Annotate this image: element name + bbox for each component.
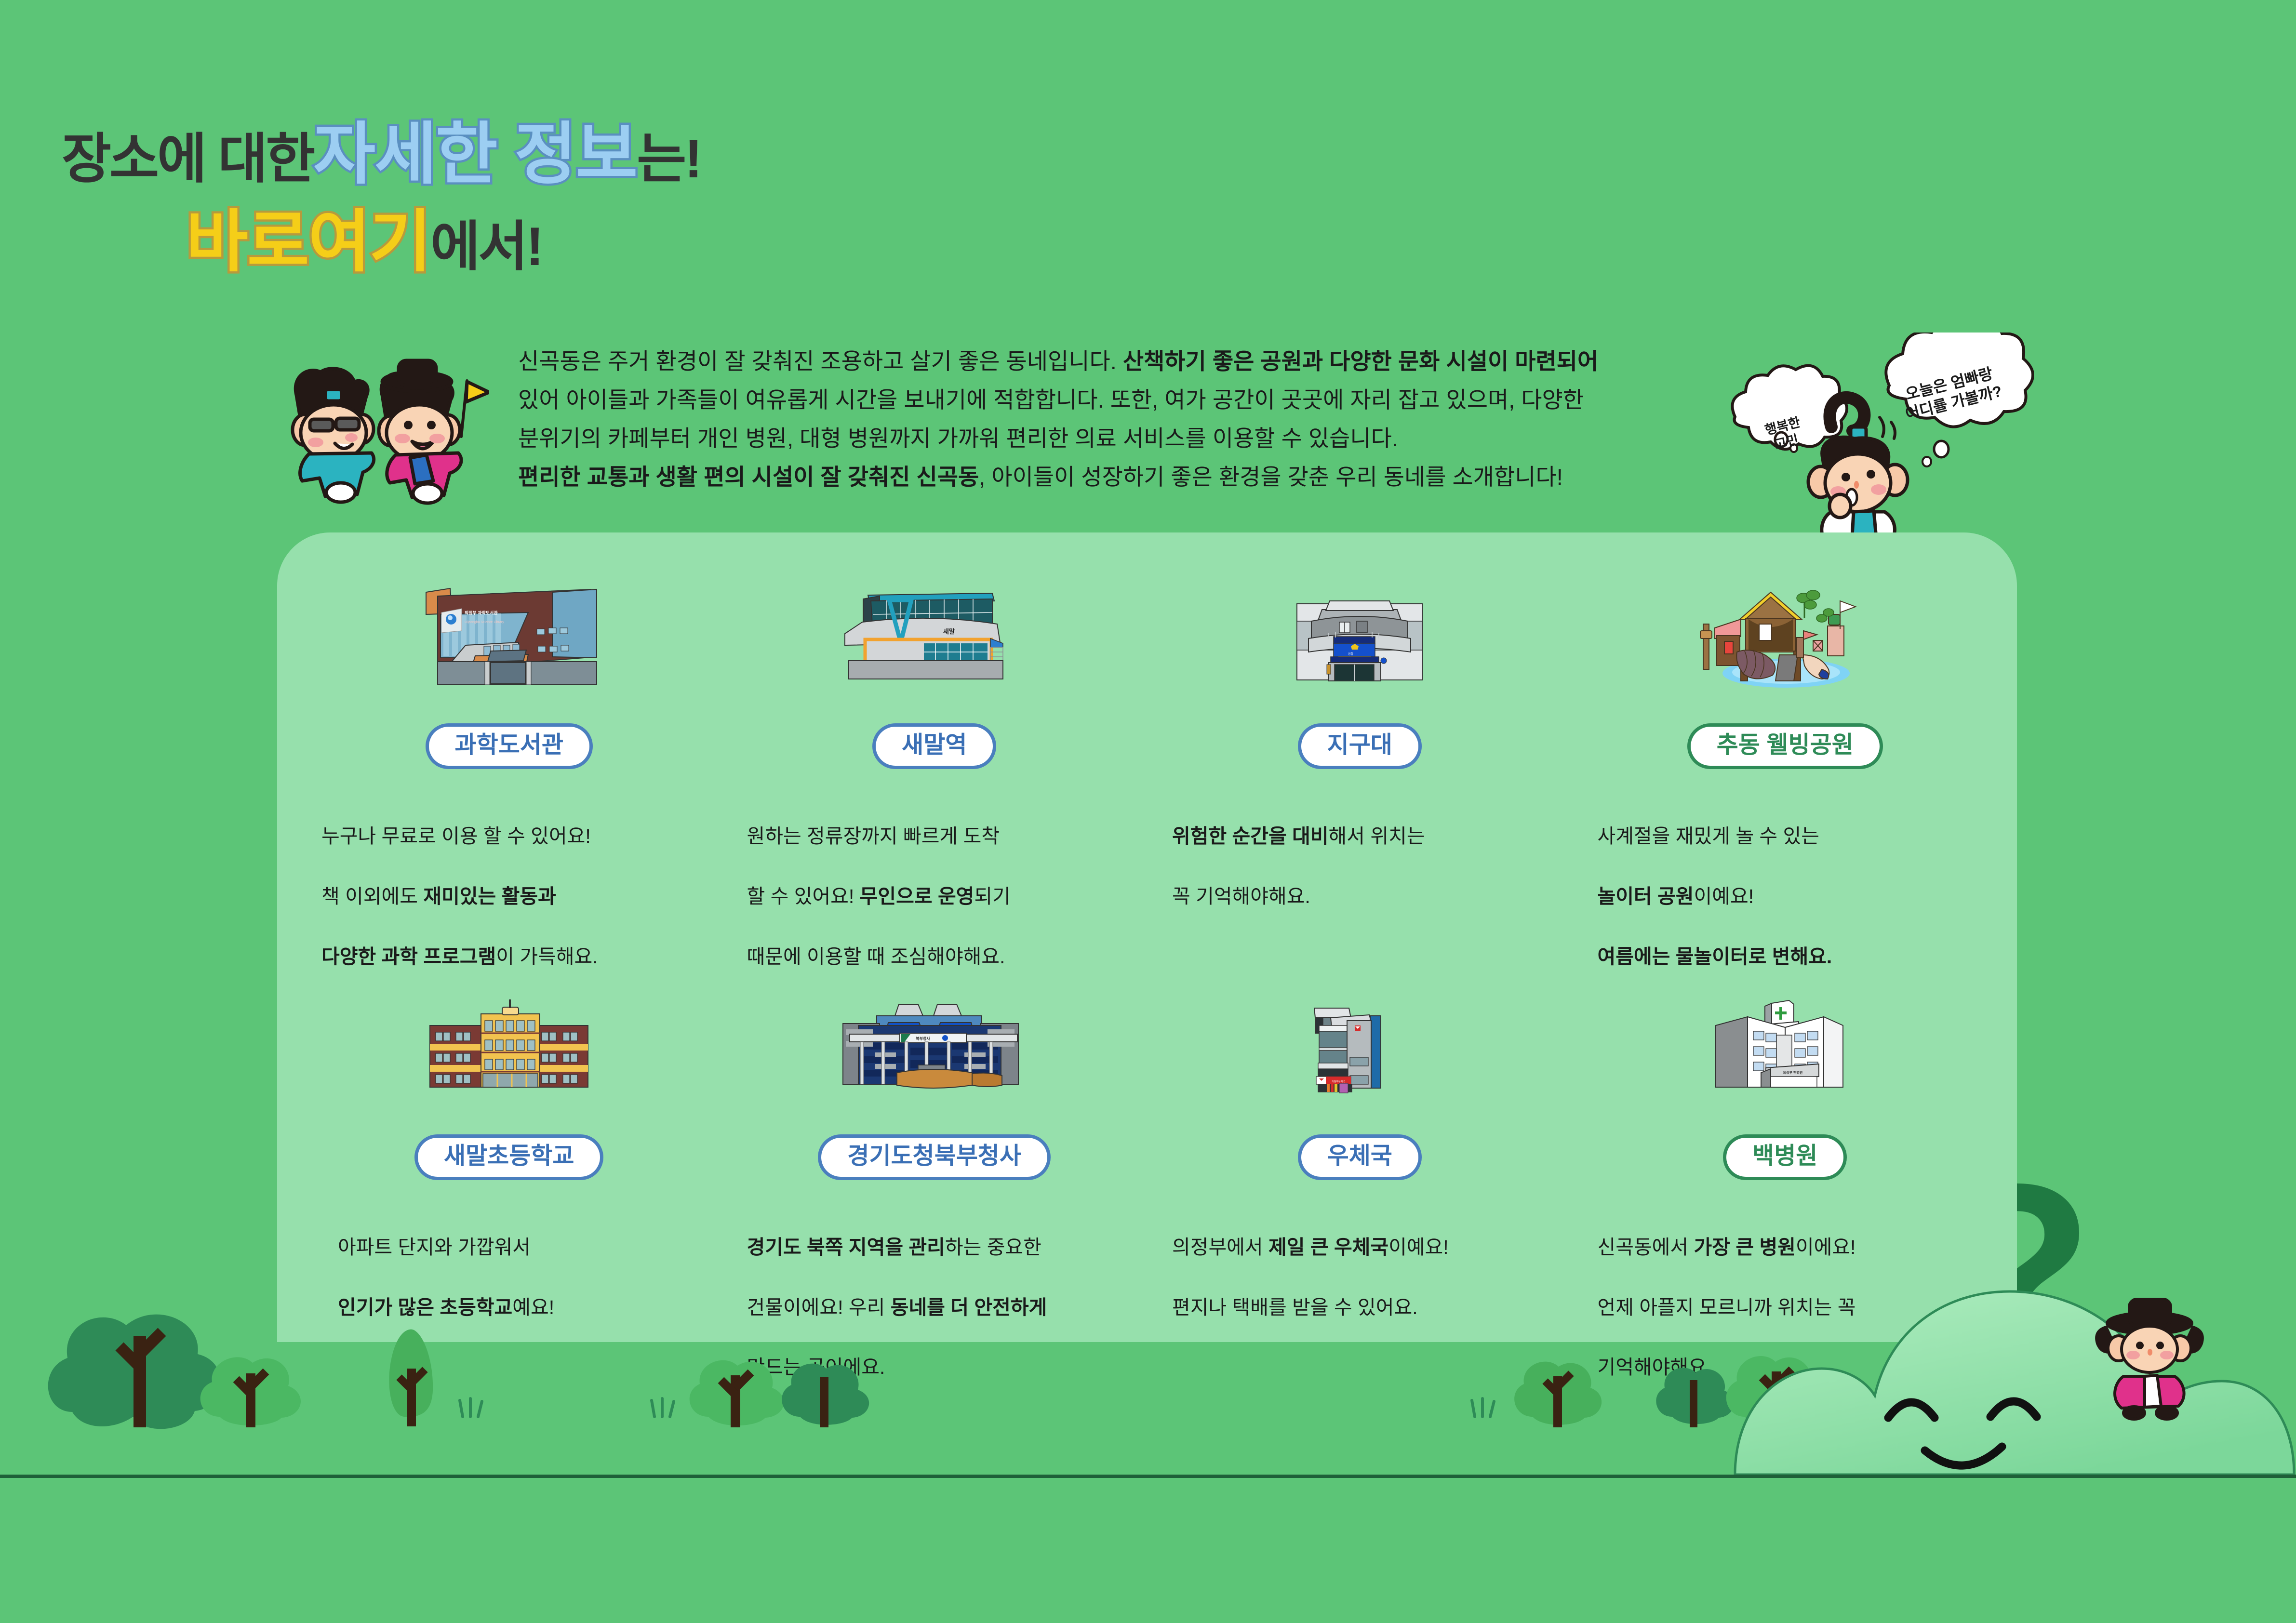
- desc-line-2a: 놀이터 공원: [1598, 885, 1694, 907]
- title-part-1: 장소에 대한: [62, 132, 313, 186]
- police-sign: 경찰: [1348, 652, 1354, 656]
- intro-text-4a: 편리한 교통과 생활 편의 시설이 잘 갖춰진 신곡동: [518, 464, 979, 490]
- post-office-illustration: 의정부우체국: [1147, 971, 1573, 1131]
- thinking-mascot-group: 행복한 고민 오늘은 엄빠랑 어디를 가볼까?: [1687, 333, 2034, 559]
- desc-line-2b: 무인으로 운영: [860, 885, 974, 907]
- office-sign: 북부청사: [916, 1036, 930, 1041]
- desc-line-2a: 할 수 있어요!: [747, 885, 860, 907]
- station-sign: 새말: [943, 628, 955, 635]
- hospital-sign-entrance: 의정부 백병원: [1783, 1070, 1802, 1075]
- facility-desc-wellbeing-park: 사계절을 재밌게 놀 수 있는 놀이터 공원이예요! 여름에는 물놀이터로 변해…: [1573, 791, 1998, 971]
- facility-desc-police-substation: 위험한 순간을 대비해서 위치는 꼭 기억해야해요.: [1147, 791, 1573, 911]
- desc-line-1a: 경기도 북쪽 지역을 관리: [747, 1236, 945, 1258]
- wellbeing-park-illustration: [1573, 560, 1998, 719]
- card-police-substation[interactable]: 경찰 지구대: [1147, 560, 1573, 971]
- library-sign-en: Uijeongbu Science Library: [465, 621, 504, 624]
- desc-line-2b: 이예요!: [1694, 885, 1754, 907]
- facility-panel: 의정부 과학도서관 Uijeongbu Science Library 과학도서…: [277, 532, 2017, 1342]
- title-highlight-blue: 자세한 정보: [313, 120, 637, 188]
- desc-line-1: 원하는 정류장까지 빠르게 도착: [747, 825, 1000, 847]
- intro-line-2: 있어 아이들과 가족들이 여유롭게 시간을 보내기에 적합합니다. 또한, 여가…: [518, 382, 1689, 418]
- desc-line-1a: 의정부에서: [1172, 1236, 1268, 1258]
- desc-line-1: 사계절을 재밌게 놀 수 있는: [1598, 825, 1819, 847]
- title-part-3: 에서!: [430, 220, 542, 274]
- saemal-station-illustration: 새말: [722, 560, 1148, 719]
- desc-line-2c: 되기: [974, 885, 1010, 907]
- mascot-on-hill: [2077, 1291, 2222, 1431]
- title-part-2: 는!: [637, 132, 700, 186]
- desc-line-2a: 책 이외에도: [321, 885, 423, 907]
- card-saemal-station[interactable]: 새말: [722, 560, 1148, 971]
- intro-text-4b: , 아이들이 성장하기 좋은 환경을 갖춘 우리 동네를 소개합니다!: [979, 464, 1563, 490]
- facility-label-elementary-school[interactable]: 새말초등학교: [414, 1134, 603, 1180]
- post-sign: 의정부우체국: [1332, 1080, 1345, 1083]
- library-sign-kr: 의정부 과학도서관: [465, 610, 498, 615]
- facility-label-gyeonggi-north-office[interactable]: 경기도청북부청사: [818, 1134, 1051, 1180]
- facility-desc-science-library: 누구나 무료로 이용 할 수 있어요! 책 이외에도 재미있는 활동과 다양한 …: [296, 791, 722, 971]
- desc-line-1a: 위험한 순간을 대비: [1172, 825, 1329, 847]
- desc-line-2: 꼭 기억해야해요.: [1172, 885, 1310, 907]
- police-substation-illustration: 경찰: [1147, 560, 1573, 719]
- intro-line-4: 편리한 교통과 생활 편의 시설이 잘 갖춰진 신곡동, 아이들이 성장하기 좋…: [518, 459, 1689, 495]
- desc-line-1b: 해서 위치는: [1329, 825, 1425, 847]
- science-library-illustration: 의정부 과학도서관 Uijeongbu Science Library: [296, 560, 722, 719]
- elementary-school-illustration: [296, 971, 722, 1131]
- desc-line-3: 때문에 이용할 때 조심해야해요.: [747, 945, 1005, 968]
- hospital-illustration: 의정부 백병원: [1573, 971, 1998, 1131]
- facility-label-science-library[interactable]: 과학도서관: [426, 723, 593, 769]
- intro-line-1: 신곡동은 주거 환경이 잘 갖춰진 조용하고 살기 좋은 동네입니다. 산책하기…: [518, 343, 1689, 380]
- facility-label-saemal-station[interactable]: 새말역: [872, 723, 996, 769]
- desc-line-3a: 다양한 과학 프로그램: [321, 945, 496, 968]
- mascot-pair-running: [267, 352, 489, 506]
- desc-line-3: 여름에는 물놀이터로 변해요.: [1598, 945, 1832, 968]
- desc-line-1: 아파트 단지와 가깝워서: [338, 1236, 531, 1258]
- provincial-office-illustration: 북부청사: [722, 971, 1148, 1131]
- facility-label-post-office[interactable]: 우체국: [1298, 1134, 1422, 1180]
- card-chudong-wellbeing-park[interactable]: 추동 웰빙공원 사계절을 재밌게 놀 수 있는 놀이터 공원이예요! 여름에는 …: [1573, 560, 1998, 971]
- card-science-library[interactable]: 의정부 과학도서관 Uijeongbu Science Library 과학도서…: [296, 560, 722, 971]
- intro-text-1b: 산책하기 좋은 공원과 다양한 문화 시설이 마련되어: [1123, 348, 1598, 374]
- intro-line-3: 분위기의 카페부터 개인 병원, 대형 병원까지 가까워 편리한 의료 서비스를…: [518, 420, 1689, 457]
- facility-label-police-substation[interactable]: 지구대: [1298, 723, 1422, 769]
- desc-line-1b: 하는 중요한: [945, 1236, 1041, 1258]
- desc-line-1b: 제일 큰 우체국: [1268, 1236, 1388, 1258]
- facility-desc-saemal-station: 원하는 정류장까지 빠르게 도착 할 수 있어요! 무인으로 운영되기 때문에 …: [722, 791, 1148, 971]
- poster-root: ? 장소에 대한 자세한 정보는! 바로여기에서!: [0, 0, 2296, 1623]
- ground-line: [0, 1475, 2296, 1478]
- intro-paragraph: 신곡동은 주거 환경이 잘 갖춰진 조용하고 살기 좋은 동네입니다. 산책하기…: [518, 343, 1689, 498]
- facility-label-paik-hospital[interactable]: 백병원: [1723, 1134, 1847, 1180]
- desc-line-1: 누구나 무료로 이용 할 수 있어요!: [321, 825, 591, 847]
- title-highlight-yellow: 바로여기: [186, 208, 430, 276]
- page-title: 장소에 대한 자세한 정보는! 바로여기에서!: [62, 120, 701, 276]
- facility-grid: 의정부 과학도서관 Uijeongbu Science Library 과학도서…: [277, 532, 2017, 1342]
- desc-line-2b: 재미있는 활동과: [423, 885, 556, 907]
- desc-line-1c: 이예요!: [1388, 1236, 1449, 1258]
- desc-line-1a: 신곡동에서: [1598, 1236, 1694, 1258]
- desc-line-3b: 이 가득해요.: [496, 945, 598, 968]
- facility-label-wellbeing-park[interactable]: 추동 웰빙공원: [1687, 723, 1883, 769]
- intro-text-1a: 신곡동은 주거 환경이 잘 갖춰진 조용하고 살기 좋은 동네입니다.: [518, 348, 1123, 374]
